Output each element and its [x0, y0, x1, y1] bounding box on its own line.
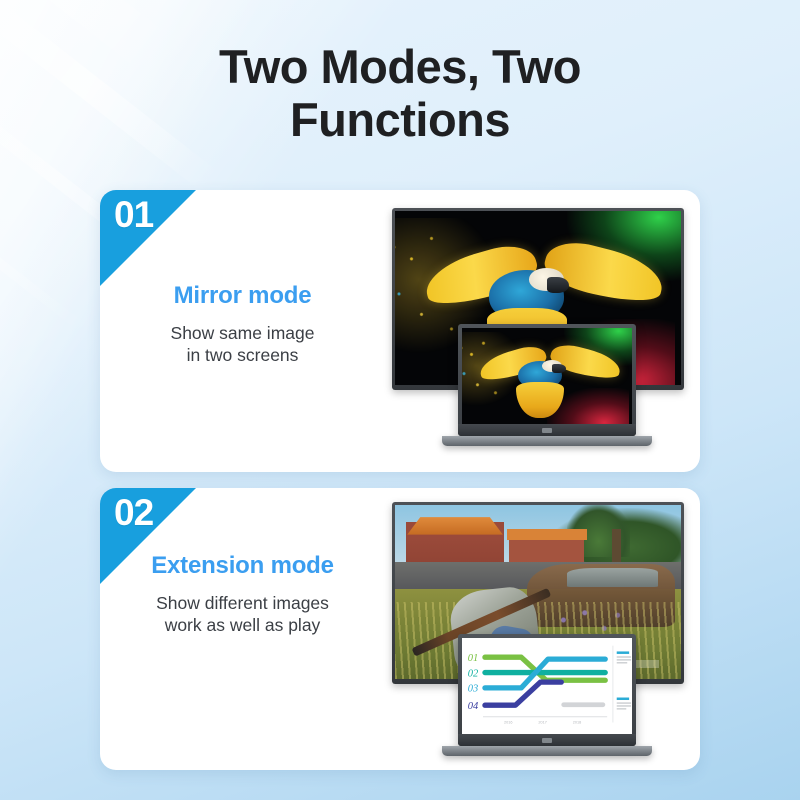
mode-title-mirror: Mirror mode	[100, 282, 385, 310]
laptop-chin	[458, 424, 636, 436]
mode-title-extension: Extension mode	[100, 552, 385, 580]
game-building-secondary	[509, 536, 583, 564]
mode-description-line-1: Show same image	[100, 322, 385, 344]
card-text-column: Mirror mode Show same image in two scree…	[100, 282, 385, 367]
parrot-beak	[552, 364, 566, 373]
page-title-line-1: Two Modes, Two	[219, 40, 581, 93]
parrot-image-mirrored	[462, 328, 632, 424]
laptop-device	[458, 324, 636, 436]
laptop-logo	[542, 738, 552, 743]
card-corner-badge: 01	[100, 190, 196, 286]
laptop-base	[442, 436, 652, 446]
card-text-column: Extension mode Show different images wor…	[100, 552, 385, 637]
page-title-line-2: Functions	[0, 93, 800, 146]
laptop-chin	[458, 734, 636, 746]
feature-card-mirror-mode[interactable]: 01 Mirror mode Show same image in two sc…	[100, 190, 700, 472]
svg-text:2018: 2018	[573, 720, 582, 724]
parrot-beak	[547, 277, 570, 293]
svg-text:02: 02	[468, 668, 479, 679]
mode-description-line-2: in two screens	[100, 344, 385, 366]
mirror-mode-artwork	[380, 190, 700, 472]
mode-description: Show same image in two screens	[100, 322, 385, 367]
presentation-slide-image: 01 02 03 04 201620172018	[462, 638, 632, 734]
svg-text:04: 04	[468, 701, 479, 712]
poster-canvas: Two Modes, Two Functions 01 Mirror mode …	[0, 0, 800, 800]
card-number-02: 02	[114, 494, 153, 531]
light-streak-decoration	[0, 140, 86, 333]
feature-card-extension-mode[interactable]: 02 Extension mode Show different images …	[100, 488, 700, 770]
mode-description-line-2: work as well as play	[100, 614, 385, 636]
slide-chart-svg: 01 02 03 04 201620172018	[462, 638, 632, 734]
mode-description-line-1: Show different images	[100, 592, 385, 614]
laptop-device: 01 02 03 04 201620172018	[458, 634, 636, 746]
mode-description: Show different images work as well as pl…	[100, 592, 385, 637]
card-number-01: 01	[114, 196, 153, 233]
laptop-screen: 01 02 03 04 201620172018	[462, 638, 632, 734]
extension-mode-artwork: 01 02 03 04 201620172018	[380, 488, 700, 770]
svg-text:01: 01	[468, 653, 478, 664]
laptop-screen	[462, 328, 632, 424]
laptop-base	[442, 746, 652, 756]
page-title: Two Modes, Two Functions	[0, 40, 800, 146]
svg-text:2016: 2016	[504, 720, 513, 724]
game-car-windshield	[567, 568, 659, 587]
svg-text:2017: 2017	[538, 720, 547, 724]
svg-text:03: 03	[468, 684, 478, 695]
game-building-secondary-roof	[507, 529, 587, 539]
laptop-logo	[542, 428, 552, 433]
